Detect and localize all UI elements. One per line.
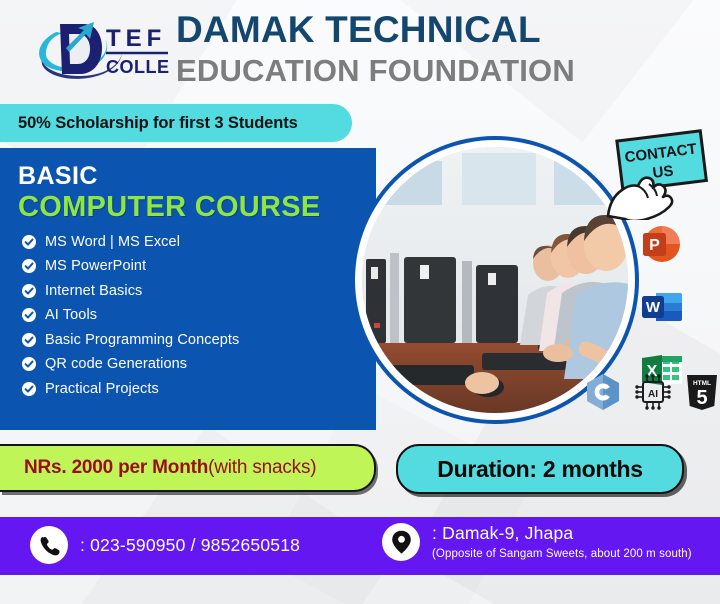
list-item: MS Word | MS Excel [22,230,239,254]
course-panel: BASIC COMPUTER COURSE MS Word | MS Excel… [0,148,376,430]
feature-label: QR code Generations [45,356,187,372]
poster-header: TEF COLLEGE DAMAK TECHNICAL EDUCATION FO… [0,0,720,100]
course-title: COMPUTER COURSE [18,190,321,224]
word-icon-label: W [646,299,661,316]
list-item: AI Tools [22,304,239,328]
powerpoint-icon-label: P [649,237,660,254]
tef-college-logo: TEF COLLEGE [22,12,170,88]
logo-subtitle: COLLEGE [106,57,170,77]
check-circle-icon [22,357,36,371]
address-contact[interactable]: : Damak-9, Jhapa (Opposite of Sangam Swe… [382,522,692,562]
check-circle-icon [22,308,36,322]
list-item: QR code Generations [22,353,239,377]
location-pin-icon [382,523,420,561]
duration-badge: Duration: 2 months [396,444,684,494]
organization-name: DAMAK TECHNICAL EDUCATION FOUNDATION [176,8,706,90]
check-circle-icon [22,382,36,396]
ai-chip-icon-label: AI [648,389,658,400]
html5-icon: HTML 5 [684,372,720,417]
list-item: Practical Projects [22,377,239,401]
price-main: NRs. 2000 per Month [24,457,208,478]
scholarship-label: 50% Scholarship for first 3 Students [0,114,298,133]
list-item: MS PowerPoint [22,255,239,279]
feature-label: Basic Programming Concepts [45,332,239,348]
check-circle-icon [22,284,36,298]
price-note: (with snacks) [208,457,316,478]
course-title-block: BASIC COMPUTER COURSE [18,162,321,224]
address-line1: : Damak-9, Jhapa [432,523,573,543]
check-circle-icon [22,259,36,273]
contact-sticker-line2: US [652,162,675,181]
feature-label: Internet Basics [45,283,142,299]
feature-label: AI Tools [45,307,97,323]
feature-label: Practical Projects [45,381,159,397]
logo-name: TEF [106,25,166,52]
price-badge: NRs. 2000 per Month(with snacks) [0,444,376,492]
powerpoint-icon: P [640,222,684,271]
word-icon: W [640,285,684,334]
phone-number: : 023-590950 / 9852650518 [80,535,300,556]
contact-footer: : 023-590950 / 9852650518 : Damak-9, Jha… [0,517,720,575]
address-line2: (Opposite of Sangam Sweets, about 200 m … [432,548,692,560]
course-feature-list: MS Word | MS Excel MS PowerPoint Interne… [22,230,239,402]
phone-icon [30,526,68,564]
c-language-icon [584,372,622,417]
phone-contact[interactable]: : 023-590950 / 9852650518 [30,526,300,564]
check-circle-icon [22,235,36,249]
promotional-poster: TEF COLLEGE DAMAK TECHNICAL EDUCATION FO… [0,0,720,604]
check-circle-icon [22,333,36,347]
brand-title-line2: EDUCATION FOUNDATION [176,52,706,90]
contact-us-sticker[interactable]: CONTACT US [602,128,714,220]
list-item: Basic Programming Concepts [22,328,239,352]
ai-chip-icon: AI [634,372,672,417]
brand-title-line1: DAMAK TECHNICAL [176,8,706,52]
technology-icons: AI HTML 5 [584,372,720,417]
duration-label: Duration: 2 months [437,456,642,483]
feature-label: MS PowerPoint [45,258,146,274]
feature-label: MS Word | MS Excel [45,234,180,250]
price-text: NRs. 2000 per Month(with snacks) [0,457,316,479]
list-item: Internet Basics [22,279,239,303]
html5-icon-label: HTML [693,380,711,387]
svg-text:5: 5 [696,387,707,409]
course-eyebrow: BASIC [18,162,321,190]
address-block: : Damak-9, Jhapa (Opposite of Sangam Swe… [432,522,692,562]
scholarship-banner: 50% Scholarship for first 3 Students [0,104,352,142]
